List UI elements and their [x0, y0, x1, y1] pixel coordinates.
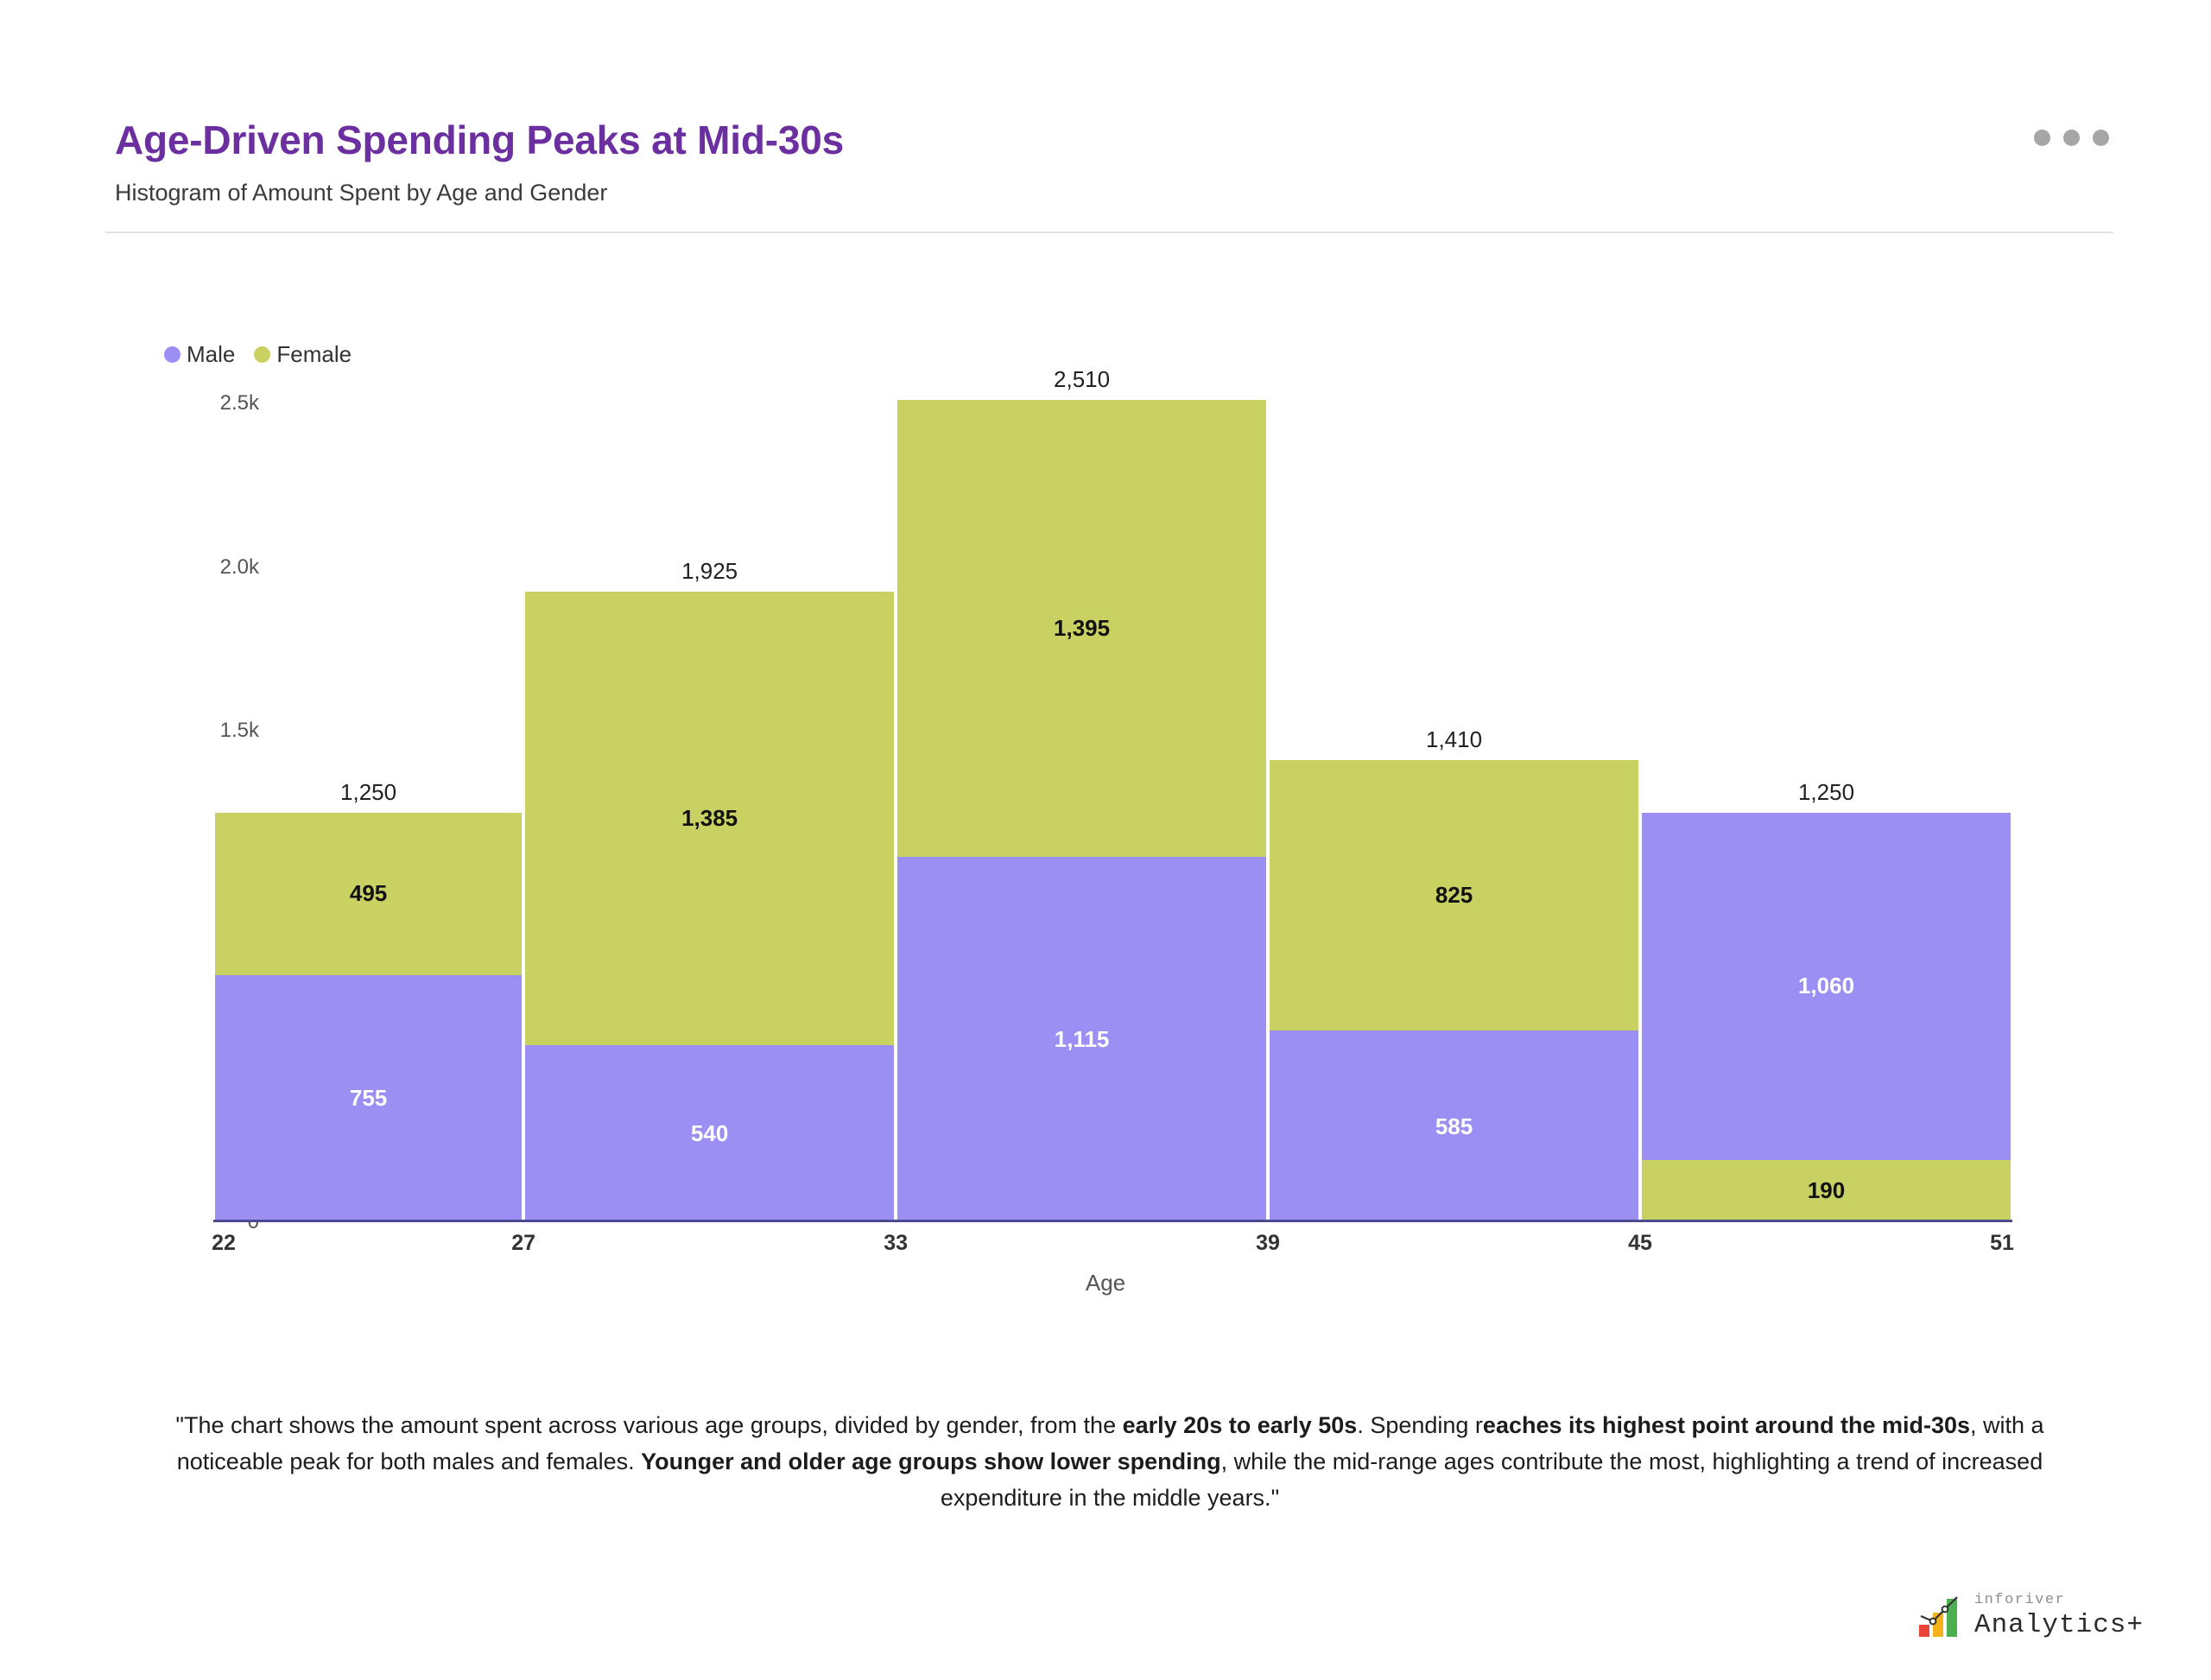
bar-segment-label: 495: [350, 880, 387, 907]
kebab-dot-1: [2034, 130, 2050, 146]
narrative-emphasis: Younger and older age groups show lower …: [641, 1449, 1221, 1474]
bar-segment-label: 1,395: [1054, 615, 1110, 642]
bar-segment-male[interactable]: 1,115: [897, 857, 1266, 1222]
bar-total-label: 1,250: [1642, 779, 2011, 806]
x-axis-title: Age: [0, 1270, 2211, 1296]
x-axis-tick-label: 39: [1256, 1231, 1280, 1256]
bar-segment-label: 1,115: [1055, 1026, 1110, 1053]
kebab-dot-3: [2093, 130, 2109, 146]
bar-segment-male[interactable]: 755: [215, 975, 522, 1222]
x-axis-tick-label: 22: [212, 1231, 236, 1256]
narrative-span: "The chart shows the amount spent across…: [175, 1412, 1122, 1438]
logo-text: inforiver Analytics+: [1974, 1593, 2144, 1639]
bar-segment-female[interactable]: 1,385: [525, 592, 894, 1045]
x-axis-tick-label: 33: [884, 1231, 908, 1256]
bar-segment-label: 1,385: [681, 805, 738, 832]
bar-total-label: 1,925: [525, 558, 894, 585]
page-subtitle: Histogram of Amount Spent by Age and Gen…: [115, 180, 607, 206]
bar-segment-female[interactable]: 190: [1642, 1160, 2011, 1222]
bar-segment-male[interactable]: 540: [525, 1045, 894, 1222]
logo-bottom-text: Analytics+: [1974, 1612, 2144, 1639]
bar-total-label: 1,410: [1270, 726, 1638, 753]
bar-stack[interactable]: 2,5101,3951,115: [897, 400, 1266, 1222]
bar-stack[interactable]: 1,2501,060190: [1642, 813, 2011, 1222]
bar-segment-male[interactable]: 585: [1270, 1030, 1638, 1222]
x-axis-tick-label: 51: [1990, 1231, 2014, 1256]
bar-segment-label: 1,060: [1798, 973, 1854, 999]
kebab-menu-icon[interactable]: [2034, 130, 2109, 146]
logo-svg: [1917, 1594, 1964, 1639]
inforiver-logo: inforiver Analytics+: [1917, 1593, 2144, 1639]
x-axis-baseline: [213, 1220, 2012, 1222]
bar-segment-label: 825: [1435, 882, 1473, 909]
header-divider: [105, 231, 2113, 233]
bar-segment-male[interactable]: 1,060: [1642, 813, 2011, 1160]
bar-total-label: 1,250: [215, 779, 522, 806]
narrative-span: . Spending r: [1357, 1412, 1483, 1438]
bar-stack[interactable]: 1,410825585: [1270, 760, 1638, 1222]
bar-segment-label: 540: [691, 1120, 728, 1147]
kebab-dot-2: [2063, 130, 2080, 146]
bar-chart-logo-icon: [1917, 1594, 1964, 1639]
x-axis-tick-label: 45: [1628, 1231, 1652, 1256]
x-axis-tick-label: 27: [511, 1231, 535, 1256]
bar-segment-label: 755: [350, 1085, 387, 1112]
bar-segment-female[interactable]: 495: [215, 813, 522, 975]
bar-stack[interactable]: 1,250495755: [215, 813, 522, 1222]
bar-segment-label: 585: [1435, 1113, 1473, 1140]
bar-total-label: 2,510: [897, 366, 1266, 393]
bar-stack[interactable]: 1,9251,385540: [525, 592, 894, 1222]
legend-swatch-icon: [164, 346, 181, 363]
bar-segment-label: 190: [1808, 1177, 1845, 1204]
bar-segment-female[interactable]: 825: [1270, 760, 1638, 1030]
chart-header: Age-Driven Spending Peaks at Mid-30s His…: [0, 0, 2211, 233]
page-title: Age-Driven Spending Peaks at Mid-30s: [115, 117, 844, 163]
plot-area: 1,2504957551,9251,3855402,5101,3951,1151…: [213, 354, 2012, 1222]
chart-page: Age-Driven Spending Peaks at Mid-30s His…: [0, 0, 2211, 1680]
narrative-text: "The chart shows the amount spent across…: [121, 1408, 2099, 1517]
bar-series-container: 1,2504957551,9251,3855402,5101,3951,1151…: [213, 354, 2012, 1222]
bar-segment-female[interactable]: 1,395: [897, 400, 1266, 857]
logo-top-text: inforiver: [1974, 1593, 2144, 1607]
narrative-emphasis: early 20s to early 50s: [1123, 1412, 1358, 1438]
narrative-emphasis: eaches its highest point around the mid-…: [1483, 1412, 1970, 1438]
